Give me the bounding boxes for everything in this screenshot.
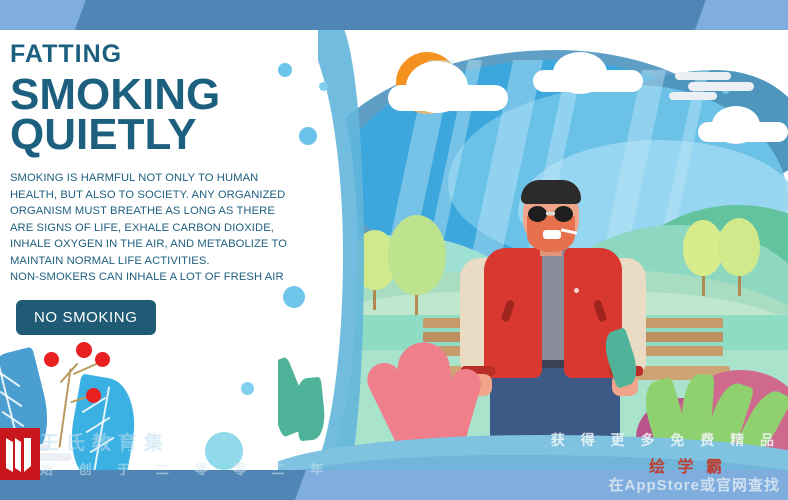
hair	[521, 180, 581, 204]
body-line: ORGANISM MUST BREATHE AS LONG AS THERE	[10, 203, 308, 220]
berry-icon	[95, 352, 110, 367]
berry-icon	[76, 342, 92, 358]
poster-root: FATTING SMOKING QUIETLY SMOKING IS HARMF…	[0, 0, 788, 500]
berry-icon	[44, 352, 59, 367]
body-paragraph: SMOKING IS HARMFUL NOT ONLY TO HUMAN HEA…	[10, 170, 308, 286]
bottom-bar-slab	[0, 470, 308, 500]
berry-icon	[86, 388, 101, 403]
mouth	[543, 230, 561, 239]
vest-button	[574, 288, 579, 293]
decorative-dot	[319, 82, 328, 91]
decorative-dot	[205, 432, 243, 470]
page-title: SMOKING QUIETLY	[10, 75, 308, 156]
eyebrow-label: FATTING	[10, 40, 308, 69]
bottom-decorative-bar	[0, 470, 788, 500]
body-line: MAINTAIN NORMAL LIFE ACTIVITIES.	[10, 253, 308, 270]
text-column: FATTING SMOKING QUIETLY SMOKING IS HARMF…	[8, 40, 308, 335]
brand-logo-icon	[0, 428, 40, 480]
sunglasses-bridge	[546, 212, 555, 215]
gray-cloud-icon	[669, 92, 717, 100]
body-line: NON-SMOKERS CAN INHALE A LOT OF FRESH AI…	[10, 269, 308, 286]
no-smoking-button[interactable]: NO SMOKING	[16, 300, 156, 335]
headline-line-1: SMOKING	[10, 75, 308, 115]
body-line: INHALE OXYGEN IN THE AIR, AND METABOLIZE…	[10, 236, 308, 253]
sunglasses-lens-left	[528, 206, 547, 222]
gray-cloud-icon	[688, 82, 754, 91]
vest-left-panel	[484, 248, 542, 378]
headline-line-2: QUIETLY	[10, 115, 308, 155]
body-line: HEALTH, BUT ALSO TO SOCIETY. ANY ORGANIZ…	[10, 187, 308, 204]
sunglasses-lens-right	[554, 206, 573, 222]
body-line: ARE SIGNS OF LIFE, EXHALE CARBON DIOXIDE…	[10, 220, 308, 237]
body-line: SMOKING IS HARMFUL NOT ONLY TO HUMAN	[10, 170, 308, 187]
top-bar-slab	[72, 0, 708, 30]
gray-cloud-icon	[675, 72, 731, 80]
decorative-dot	[241, 382, 254, 395]
top-decorative-bar	[0, 0, 788, 30]
